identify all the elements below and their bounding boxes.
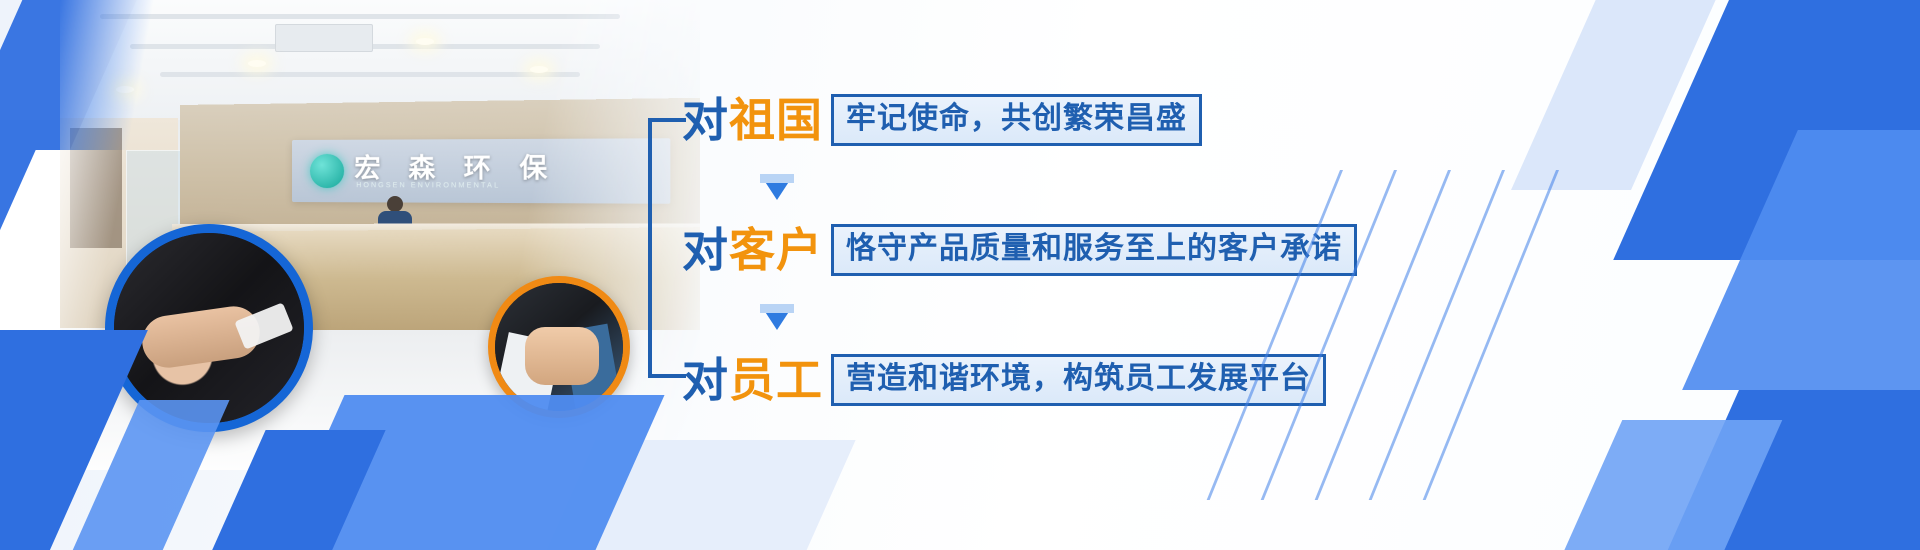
value-keyword: 祖国 <box>729 93 823 147</box>
company-sign-text: 宏 森 环 保 <box>354 147 557 185</box>
value-chip-nation: 牢记使命，共创繁荣昌盛 <box>831 94 1202 146</box>
value-prefix: 对 <box>682 93 729 147</box>
value-row-nation: 对祖国 牢记使命，共创繁荣昌盛 <box>682 94 1202 146</box>
value-row-customer: 对客户 恪守产品质量和服务至上的客户承诺 <box>682 224 1357 276</box>
value-keyword: 客户 <box>729 223 823 277</box>
value-row-employee: 对员工 营造和谐环境，构筑员工发展平台 <box>682 354 1326 406</box>
value-keyword: 员工 <box>729 353 823 407</box>
value-label-nation: 对祖国 <box>682 97 823 143</box>
door <box>70 128 122 248</box>
value-label-employee: 对员工 <box>682 357 823 403</box>
values-list: 对祖国 牢记使命，共创繁荣昌盛 对客户 恪守产品质量和服务至上的客户承诺 对员工… <box>648 78 1388 408</box>
decorative-diagonal-lines <box>1320 170 1640 500</box>
company-signboard: 宏 森 环 保 HONGSEN ENVIRONMENTAL <box>292 138 670 204</box>
value-prefix: 对 <box>682 353 729 407</box>
value-chip-employee: 营造和谐环境，构筑员工发展平台 <box>831 354 1326 406</box>
ceiling-vent <box>275 24 373 52</box>
chevron-down-icon <box>760 304 794 330</box>
bracket-connector <box>648 118 686 378</box>
chevron-down-icon <box>760 174 794 200</box>
value-prefix: 对 <box>682 223 729 277</box>
value-label-customer: 对客户 <box>682 227 823 273</box>
value-chip-customer: 恪守产品质量和服务至上的客户承诺 <box>831 224 1357 276</box>
company-values-banner: 宏 森 环 保 HONGSEN ENVIRONMENTAL 对祖国 牢记使命，共… <box>0 0 1920 550</box>
company-sign-subtext: HONGSEN ENVIRONMENTAL <box>356 182 500 189</box>
company-logo-icon <box>310 154 344 188</box>
